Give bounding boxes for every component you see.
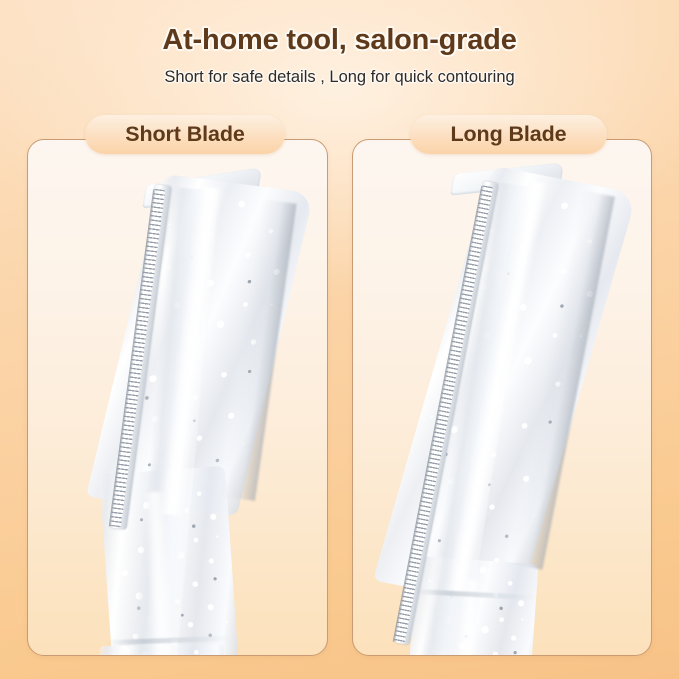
page-title: At-home tool, salon-grade bbox=[0, 24, 679, 57]
badge-short-blade-label: Short Blade bbox=[125, 124, 245, 146]
badge-long-blade[interactable]: Long Blade bbox=[410, 115, 607, 154]
long-blade-photo bbox=[353, 140, 652, 655]
badge-long-blade-label: Long Blade bbox=[450, 124, 566, 146]
panel-long-blade[interactable] bbox=[352, 139, 653, 656]
panel-short-blade[interactable] bbox=[27, 139, 328, 656]
product-comparison-poster: At-home tool, salon-grade Short for safe… bbox=[0, 0, 679, 679]
headings-block: At-home tool, salon-grade Short for safe… bbox=[0, 24, 679, 88]
panel-grid bbox=[27, 139, 652, 656]
short-blade-photo bbox=[28, 140, 327, 655]
badge-short-blade[interactable]: Short Blade bbox=[85, 115, 285, 154]
page-subtitle: Short for safe details , Long for quick … bbox=[0, 68, 679, 88]
